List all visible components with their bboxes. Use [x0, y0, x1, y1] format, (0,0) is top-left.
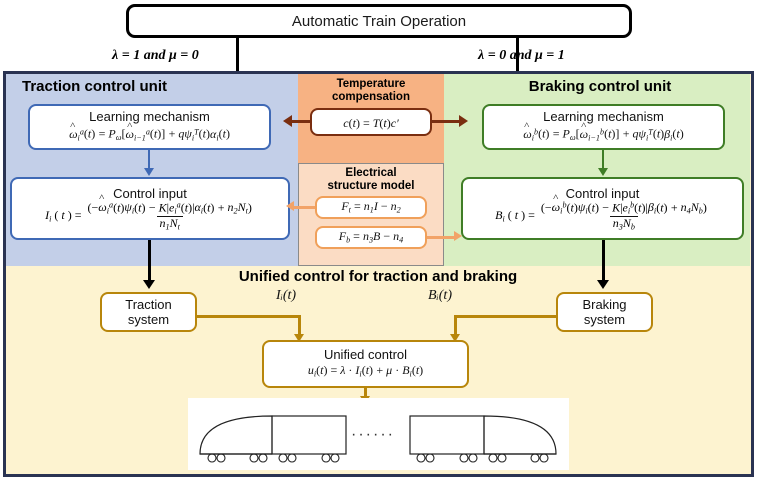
connector-traction-system-h [197, 315, 301, 318]
train-illustration: ······ [188, 398, 569, 470]
braking-control-equation: Bi(t)= (−ωib(t)ψi(t) − K|eib(t)|βi(t) + … [495, 201, 710, 231]
braking-learning-caption: Learning mechanism [543, 109, 664, 124]
mode-label-left: λ = 1 and μ = 0 [112, 48, 199, 64]
traction-control-input-box: Control input Ii(t)= (−ωia(t)ψi(t) − K|e… [10, 177, 290, 240]
connector-braking-to-system [602, 240, 605, 282]
mode-label-right: λ = 0 and μ = 1 [478, 48, 565, 64]
braking-control-input-box: Control input Bi(t)= (−ωib(t)ψi(t) − K|e… [461, 177, 744, 240]
panel-title-electrical-line2: structure model [300, 180, 442, 193]
braking-control-caption: Control input [566, 186, 640, 201]
connector-braking-system-h [454, 315, 558, 318]
panel-title-temperature-line1: Temperature [300, 78, 442, 91]
unified-control-caption: Unified control [324, 347, 407, 362]
diagram-root: Automatic Train Operation λ = 1 and μ = … [0, 0, 757, 481]
braking-system-line2: system [584, 312, 625, 327]
traction-control-caption: Control input [113, 186, 187, 201]
traction-system-box: Traction system [100, 292, 197, 332]
temperature-compensation-box: c(t) = T(t)c′ [310, 108, 432, 136]
electrical-equation-top: Ft = n1I − n2 [341, 199, 400, 217]
train-ellipsis: ······ [351, 426, 395, 444]
temperature-equation: c(t) = T(t)c′ [343, 116, 398, 130]
traction-system-line1: Traction [125, 297, 171, 312]
arrow-temp-to-traction [283, 115, 292, 127]
traction-control-equation: Ii(t)= (−ωia(t)ψi(t) − K|eia(t)|αi(t) + … [45, 201, 255, 231]
connector-electrical-to-braking [427, 236, 455, 239]
title-text: Automatic Train Operation [292, 13, 466, 30]
panel-title-traction: Traction control unit [10, 78, 272, 95]
panel-title-temperature-line2: compensation [300, 91, 442, 104]
arrow-braking-to-system [597, 280, 609, 289]
unified-control-box: Unified control ui(t) = λ · Ii(t) + μ · … [262, 340, 469, 388]
traction-learning-mechanism-box: Learning mechanism ωia(t) = Pω[ωi−1a(t)]… [28, 104, 271, 150]
electrical-equation-bottom-box: Fb = n3B − n4 [315, 226, 427, 249]
arrow-traction-to-system [143, 280, 155, 289]
connector-temp-to-braking [430, 120, 460, 123]
arrow-temp-to-braking [459, 115, 468, 127]
arrow-braking-learning-to-control [598, 168, 608, 176]
arrow-traction-learning-to-control [144, 168, 154, 176]
braking-system-box: Braking system [556, 292, 653, 332]
signal-label-traction: Iᵢ(t) [276, 288, 296, 304]
panel-title-braking: Braking control unit [460, 78, 740, 95]
traction-system-line2: system [128, 312, 169, 327]
braking-learning-equation: ωib(t) = Pω[ωi−1b(t)] + qψiT(t)βi(t) [523, 125, 684, 145]
traction-learning-caption: Learning mechanism [89, 109, 210, 124]
connector-electrical-to-traction [294, 206, 315, 209]
traction-learning-equation: ωia(t) = Pω[ωi−1a(t)] + qψiT(t)αi(t) [69, 125, 230, 145]
unified-control-equation: ui(t) = λ · Ii(t) + μ · Bi(t) [308, 363, 423, 381]
connector-temp-to-traction [292, 120, 312, 123]
connector-traction-to-system [148, 240, 151, 282]
arrow-electrical-to-traction [286, 201, 294, 211]
braking-system-line1: Braking [582, 297, 626, 312]
braking-learning-mechanism-box: Learning mechanism ωib(t) = Pω[ωi−1b(t)]… [482, 104, 725, 150]
panel-title-electrical-line1: Electrical [300, 167, 442, 180]
panel-title-unified: Unified control for traction and braking [6, 268, 750, 285]
signal-label-braking: Bᵢ(t) [428, 288, 452, 304]
title-box: Automatic Train Operation [126, 4, 632, 38]
electrical-equation-bottom: Fb = n3B − n4 [339, 229, 403, 247]
electrical-equation-top-box: Ft = n1I − n2 [315, 196, 427, 219]
